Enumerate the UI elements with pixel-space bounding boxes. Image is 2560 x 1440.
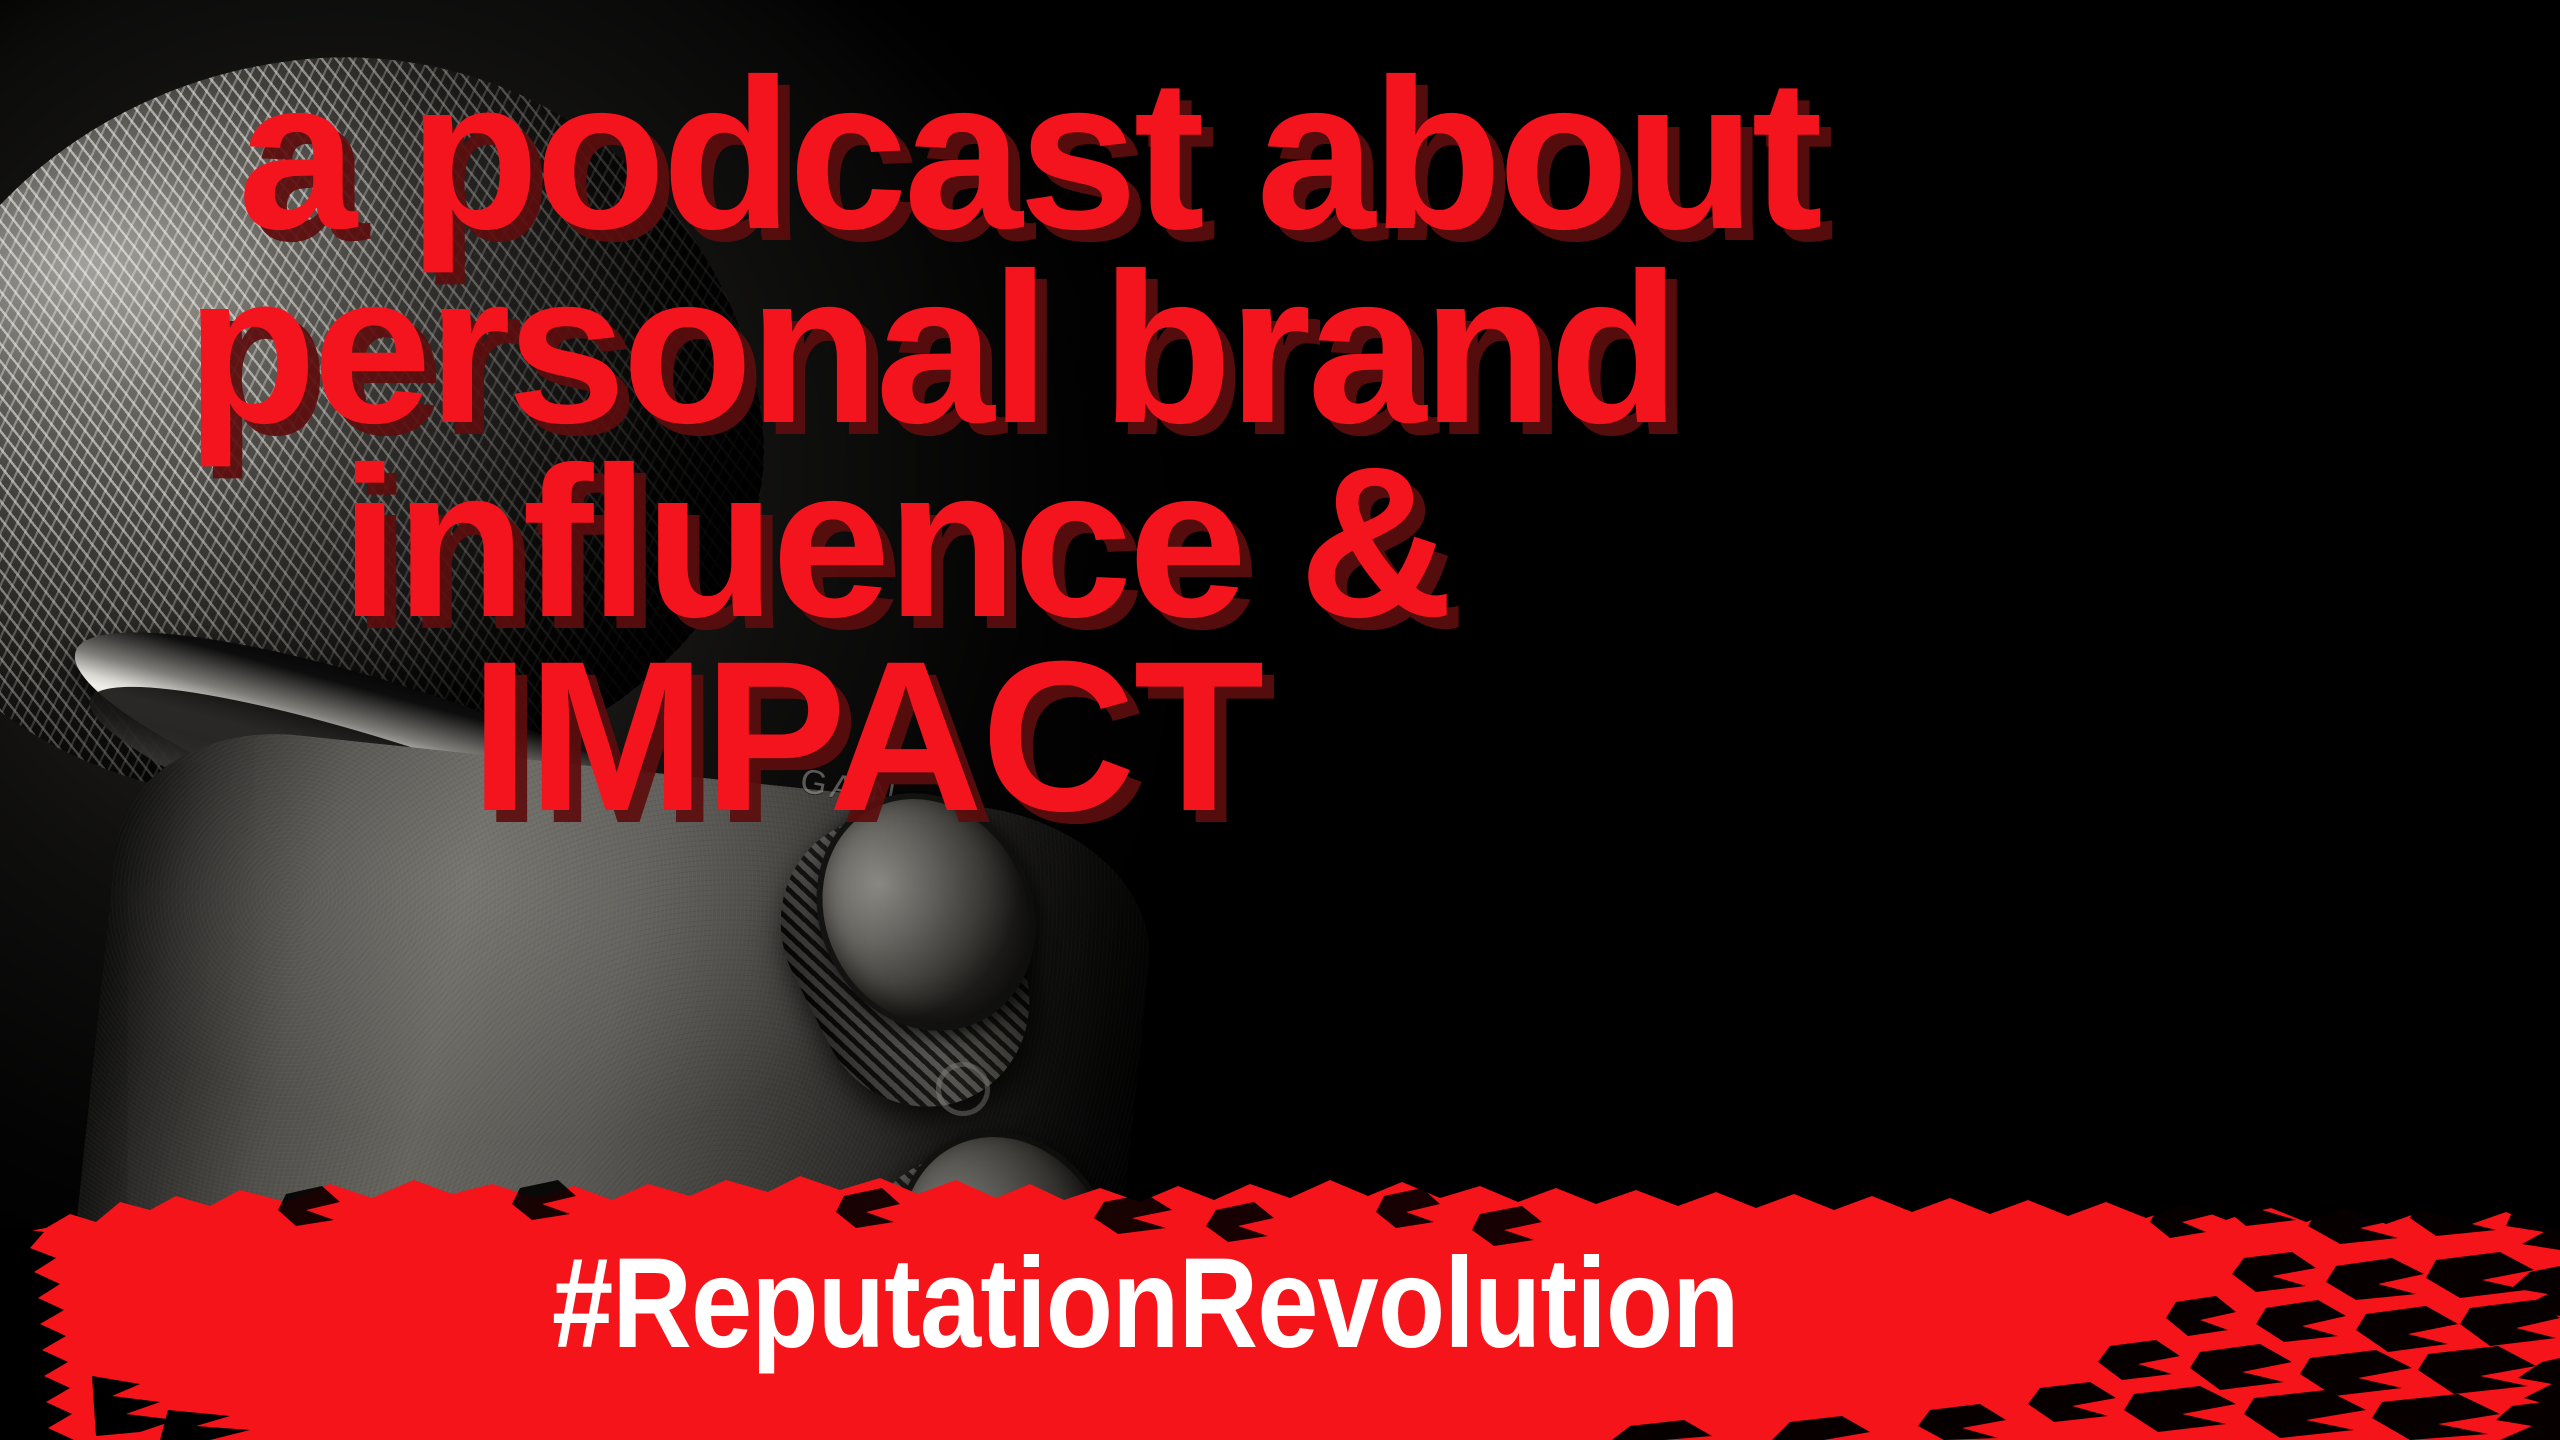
brush-stroke-shape xyxy=(0,1140,2560,1440)
red-brush-banner xyxy=(0,1140,2560,1440)
podcast-cover-canvas: GAIN a podcast about personal brand infl… xyxy=(0,0,2560,1440)
